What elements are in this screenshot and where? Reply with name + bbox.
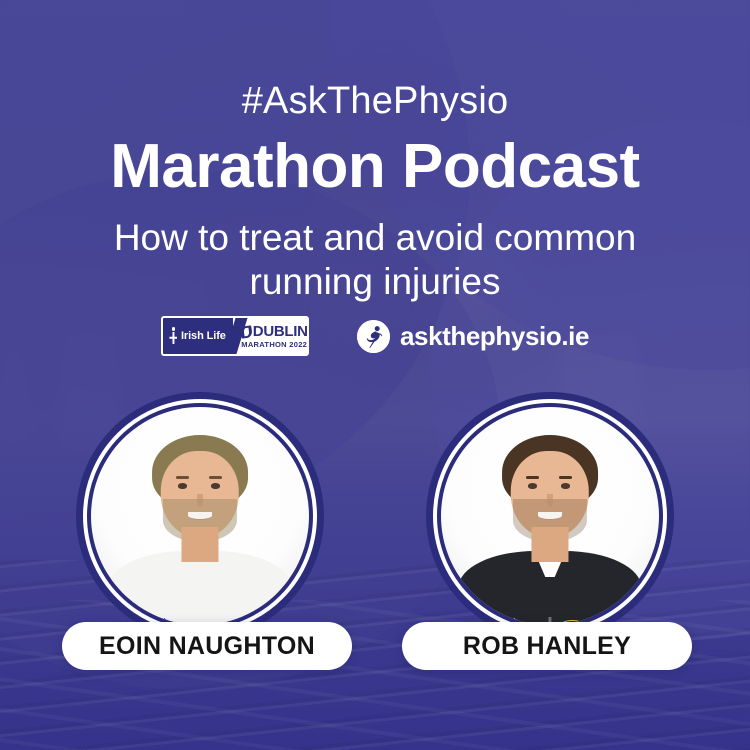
guest-right-neck [531,527,568,562]
guest-name-left: EOIN NAUGHTON [99,632,315,661]
guest-portrait-left: ❄ [76,392,324,640]
irish-life-lockup: Irish Life [163,318,233,354]
dublin-wordmark-row: DUBLIN [241,324,308,339]
guest-name-badge-left: EOIN NAUGHTON [62,622,352,670]
guest-left-brow-left [176,476,189,479]
hashtag-label: #AskThePhysio [0,82,750,120]
logo-row: Irish Life DUBLIN MARATHON 2022 [0,316,750,356]
irish-life-label: Irish Life [181,330,226,342]
guest-left-mouth [188,512,212,521]
guest-photo-right: ❄ [441,407,659,625]
marathon-year-label: MARATHON 2022 [241,341,307,349]
guest-name-right: ROB HANLEY [463,632,631,661]
guest-left-shirt: ❄ [108,551,291,625]
guest-right-eye-left [528,483,537,488]
guest-left-neck [181,527,218,562]
askthephysio-logo[interactable]: askthephysio.ie [357,320,589,353]
dublin-marathon-logo: Irish Life DUBLIN MARATHON 2022 [161,316,309,356]
guest-photo-left: ❄ [91,407,309,625]
avatar-left: ❄ [91,407,309,625]
page-title: Marathon Podcast [0,136,750,198]
dublin-wordmark: DUBLIN [253,324,308,339]
guest-left-eye-right [211,483,220,488]
poster-content: #AskThePhysio Marathon Podcast How to tr… [0,0,750,750]
guest-portrait-right: ❄ [426,392,674,640]
guest-name-badge-right: ROB HANLEY [402,622,692,670]
guest-left-eye-left [178,483,187,488]
guest-left-brow-right [209,476,222,479]
askthephysio-wordmark: askthephysio.ie [400,323,589,349]
avatar-right: ❄ [441,407,659,625]
irish-life-mark-icon [169,327,178,345]
guest-right-mouth [538,512,562,521]
running-figure-icon [357,320,390,353]
guest-right-brow-right [559,476,572,479]
podcast-promo-poster: #AskThePhysio Marathon Podcast How to tr… [0,0,750,750]
guest-right-eye-right [561,483,570,488]
subtitle-text: How to treat and avoid common running in… [60,216,690,303]
guest-right-brow-left [526,476,539,479]
dublin-swoosh-icon [240,325,253,338]
